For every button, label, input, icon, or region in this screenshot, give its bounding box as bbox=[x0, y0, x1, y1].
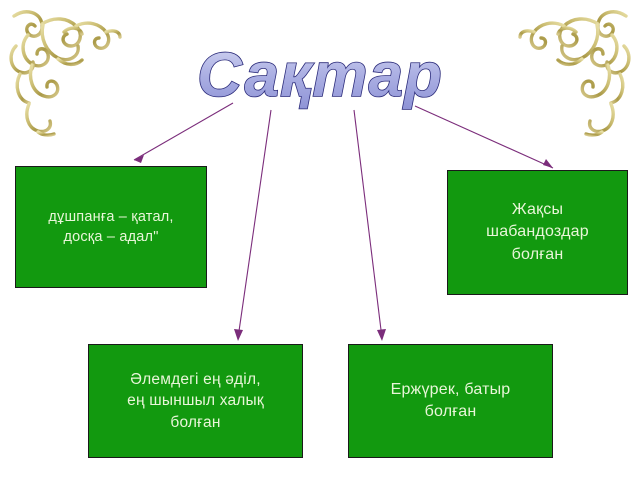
concept-box-3[interactable]: Әлемдегі ең әділ, ең шыншыл халық болған bbox=[88, 344, 303, 458]
concept-box-1[interactable]: дұшпанға – қатал, досқа – адал" bbox=[15, 166, 207, 288]
concept-box-2-label: Жақсы шабандоздар болған bbox=[448, 199, 627, 265]
connector-title-to-node-1 bbox=[134, 103, 233, 163]
concept-box-2[interactable]: Жақсы шабандоздар болған bbox=[447, 170, 628, 295]
connector-title-to-node-4 bbox=[354, 110, 386, 341]
concept-box-3-label: Әлемдегі ең әділ, ең шыншыл халық болған bbox=[89, 369, 302, 433]
connector-title-to-node-2 bbox=[415, 106, 553, 168]
concept-box-1-label: дұшпанға – қатал, досқа – адал" bbox=[16, 207, 206, 247]
concept-box-4[interactable]: Ержүрек, батыр болған bbox=[348, 344, 553, 458]
connector-title-to-node-3 bbox=[234, 110, 271, 341]
concept-box-4-label: Ержүрек, батыр болған bbox=[349, 379, 552, 423]
slide-canvas: Сақтар дұшпанға – қатал, досқа – адал" Ж… bbox=[0, 0, 640, 480]
